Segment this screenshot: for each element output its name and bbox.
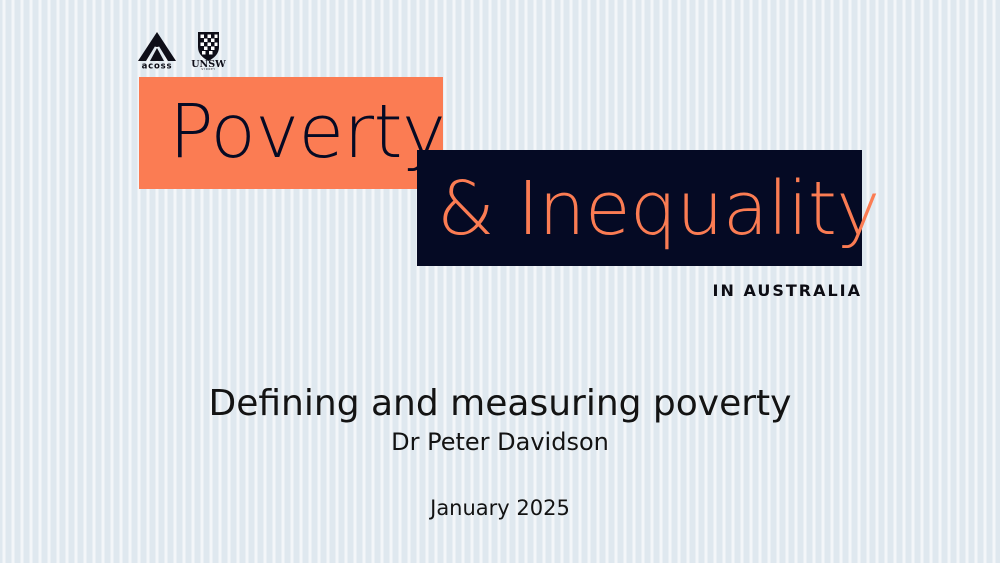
presentation-slide: acoss UNSW SYDNEY <box>0 0 1000 563</box>
logo-row: acoss UNSW SYDNEY <box>136 29 230 70</box>
poverty-banner: Poverty <box>139 77 443 189</box>
author-name: Dr Peter Davidson <box>0 426 1000 458</box>
location-subtitle: IN AUSTRALIA <box>462 281 862 300</box>
page-title: Defining and measuring poverty <box>0 382 1000 426</box>
inequality-heading: & Inequality <box>437 155 880 263</box>
slide-date: January 2025 <box>0 496 1000 520</box>
acoss-logo: acoss <box>136 30 178 70</box>
inequality-banner: & Inequality <box>417 150 862 266</box>
acoss-wordmark: acoss <box>142 62 173 71</box>
unsw-logo: UNSW SYDNEY <box>187 29 230 70</box>
title-block: Defining and measuring poverty Dr Peter … <box>0 382 1000 458</box>
poverty-heading: Poverty <box>169 80 445 184</box>
